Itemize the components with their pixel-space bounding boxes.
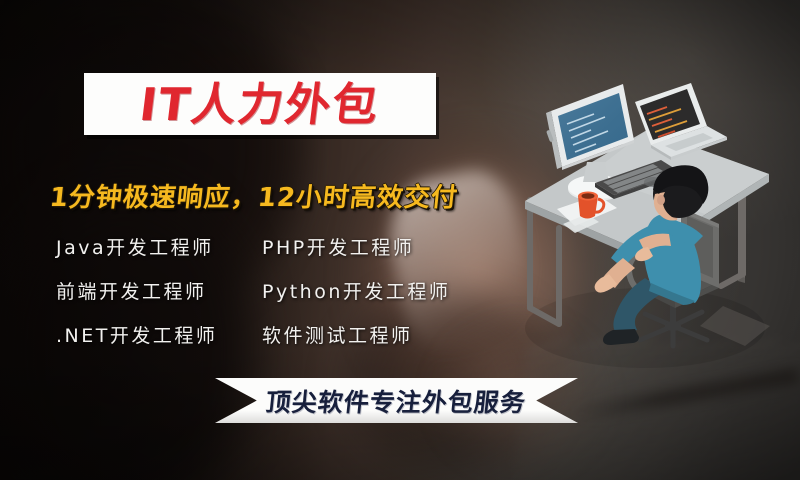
service-row: .NET开发工程师 软件测试工程师: [56, 312, 476, 356]
service-item: Python开发工程师: [262, 277, 476, 304]
title-banner: IT人力外包: [84, 73, 436, 135]
page-title: IT人力外包: [138, 82, 383, 127]
service-item: 前端开发工程师: [56, 277, 262, 304]
service-row: 前端开发工程师 Python开发工程师: [56, 268, 476, 312]
service-item: PHP开发工程师: [262, 233, 476, 260]
service-item: Java开发工程师: [56, 233, 262, 260]
services-list: Java开发工程师 PHP开发工程师 前端开发工程师 Python开发工程师 .…: [56, 224, 476, 356]
ribbon-text: 顶尖软件专注外包服务: [265, 383, 529, 419]
subtitle: 1分钟极速响应，12小时高效交付: [48, 177, 460, 214]
ribbon-banner: 顶尖软件专注外包服务: [215, 378, 578, 423]
developer-at-desk-icon: [495, 78, 795, 368]
service-row: Java开发工程师 PHP开发工程师: [56, 224, 476, 268]
service-item: .NET开发工程师: [56, 321, 262, 348]
service-item: 软件测试工程师: [262, 321, 476, 348]
poster-canvas: IT人力外包 1分钟极速响应，12小时高效交付 Java开发工程师 PHP开发工…: [0, 0, 800, 480]
